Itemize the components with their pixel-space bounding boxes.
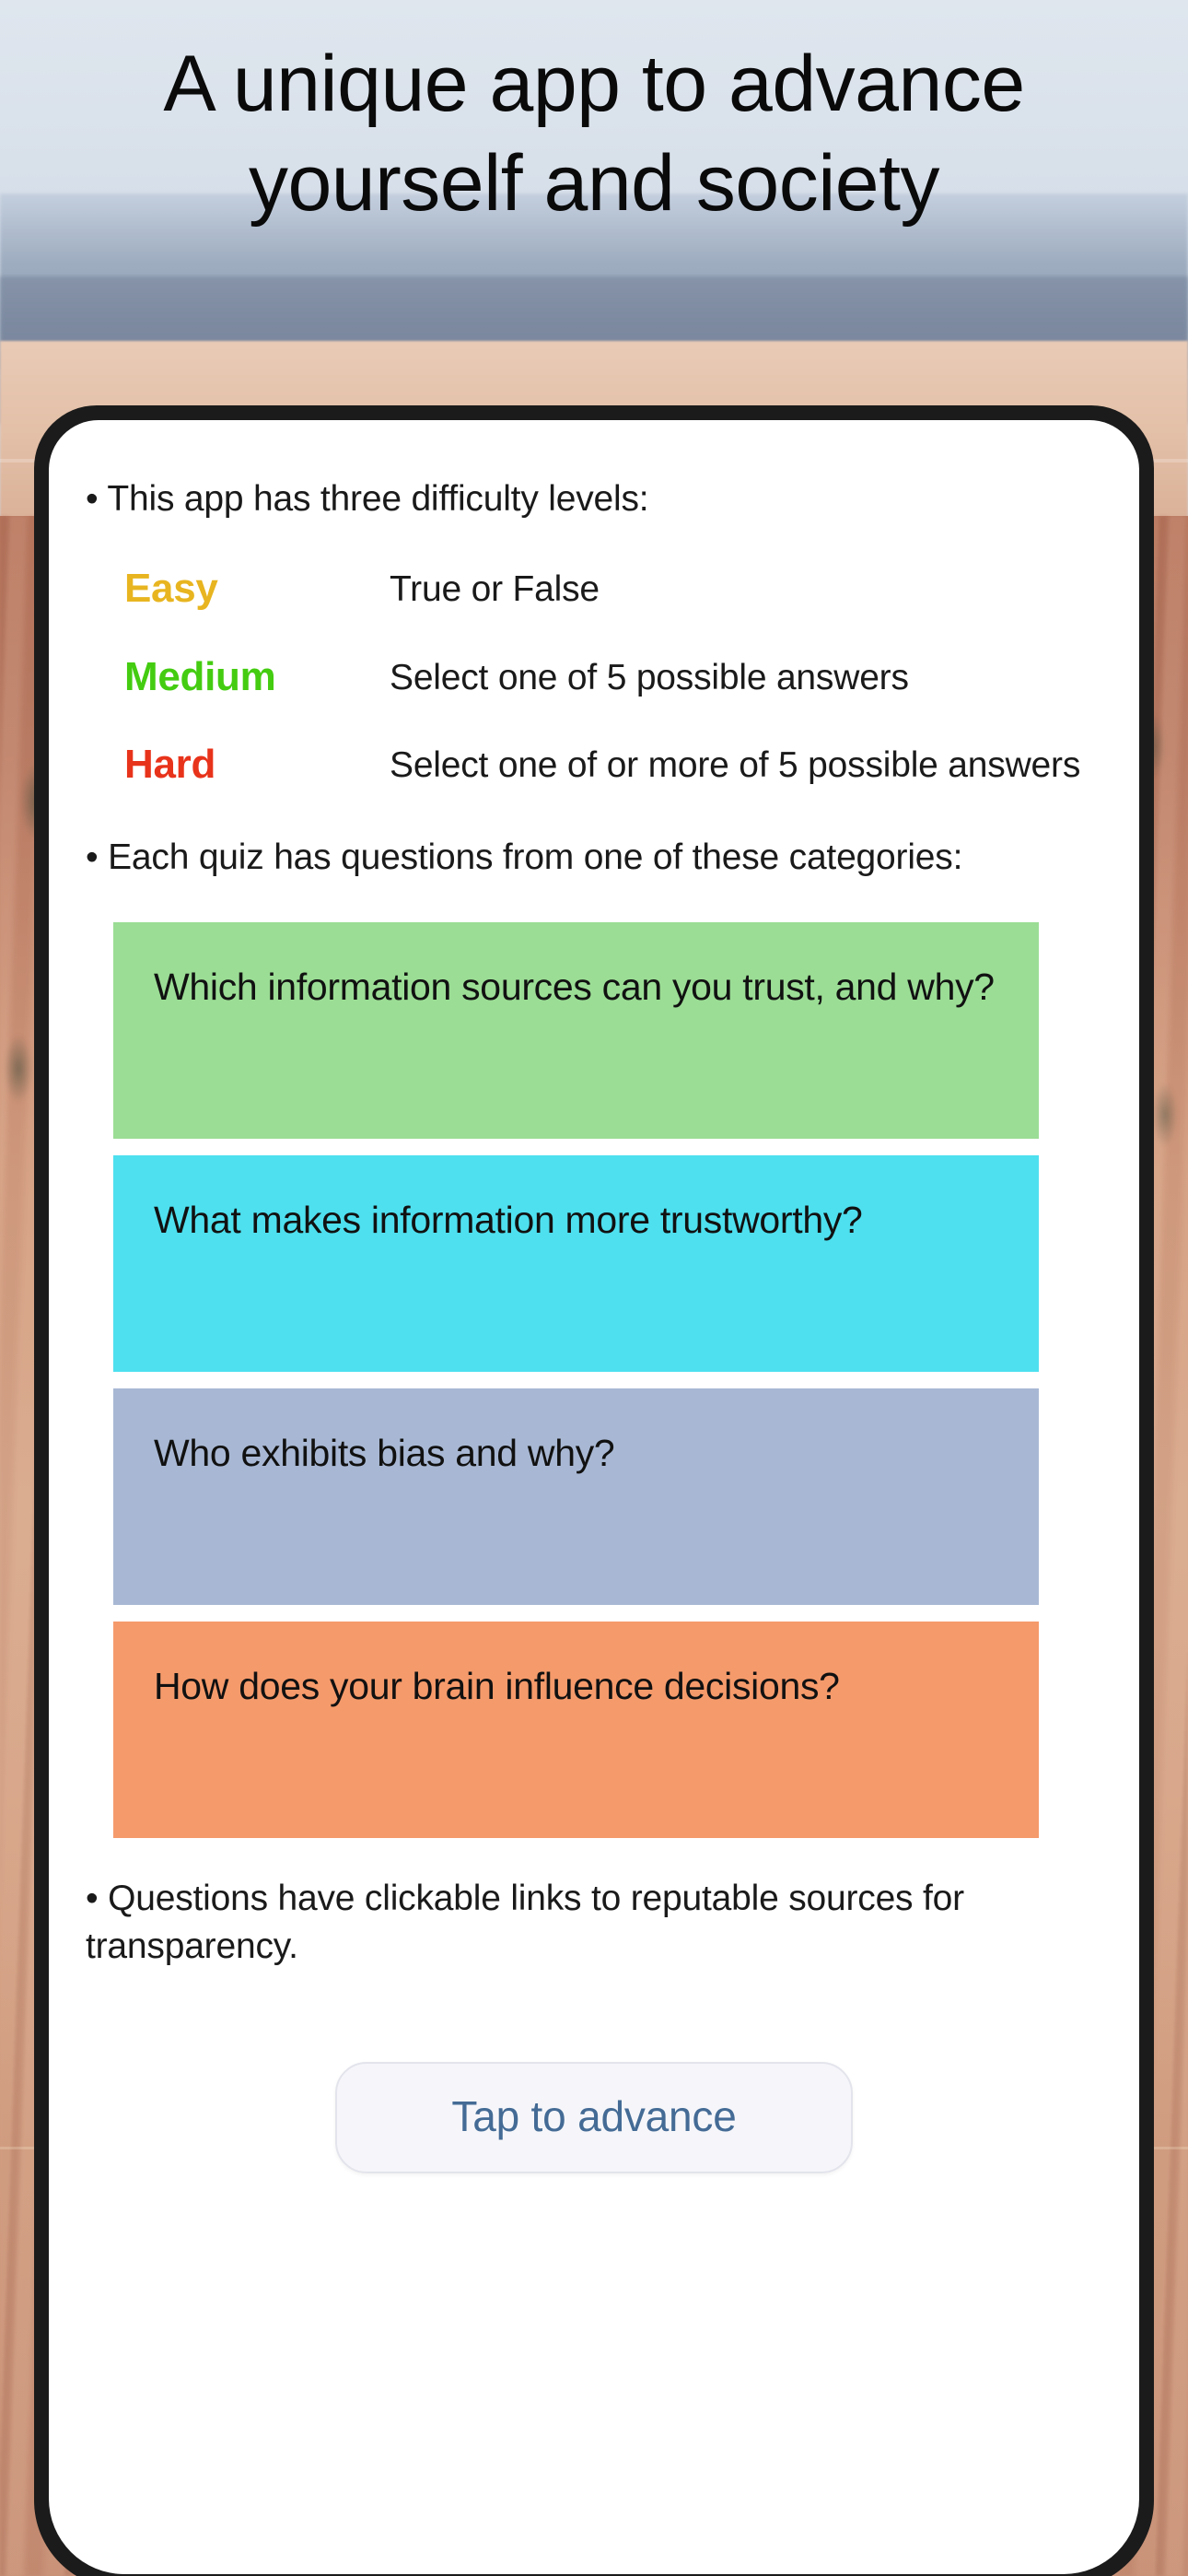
tap-to-advance-button[interactable]: Tap to advance	[335, 2062, 853, 2173]
headline-line-1: A unique app to advance	[18, 44, 1170, 123]
difficulty-row-hard: Hard Select one of or more of 5 possible…	[86, 740, 1102, 790]
difficulty-row-easy: Easy True or False	[86, 564, 1102, 614]
category-list: Which information sources can you trust,…	[86, 922, 1102, 1838]
bullet-categories-intro: • Each quiz has questions from one of th…	[86, 834, 1102, 882]
screen-content: • This app has three difficulty levels: …	[49, 420, 1139, 2173]
category-card-bias[interactable]: Who exhibits bias and why?	[113, 1388, 1039, 1605]
category-card-label: Which information sources can you trust,…	[154, 963, 1006, 1011]
category-card-label: Who exhibits bias and why?	[154, 1429, 1006, 1477]
difficulty-label-medium: Medium	[86, 652, 390, 702]
category-card-label: How does your brain influence decisions?	[154, 1662, 1006, 1710]
difficulty-row-medium: Medium Select one of 5 possible answers	[86, 652, 1102, 702]
phone-mockup-frame: • This app has three difficulty levels: …	[34, 405, 1154, 2576]
headline-line-2: yourself and society	[18, 144, 1170, 223]
page-headline: A unique app to advance yourself and soc…	[0, 44, 1188, 223]
bullet-difficulty-intro: • This app has three difficulty levels:	[86, 475, 1102, 523]
difficulty-label-hard: Hard	[86, 740, 390, 790]
difficulty-label-easy: Easy	[86, 564, 390, 614]
category-card-label: What makes information more trustworthy?	[154, 1196, 1006, 1244]
difficulty-levels-table: Easy True or False Medium Select one of …	[86, 564, 1102, 790]
difficulty-description-medium: Select one of 5 possible answers	[390, 652, 1102, 701]
category-card-sources-trust[interactable]: Which information sources can you trust,…	[113, 922, 1039, 1139]
advance-button-container: Tap to advance	[86, 2062, 1102, 2173]
category-card-brain-decisions[interactable]: How does your brain influence decisions?	[113, 1622, 1039, 1838]
difficulty-description-hard: Select one of or more of 5 possible answ…	[390, 740, 1102, 789]
phone-screen: • This app has three difficulty levels: …	[49, 420, 1139, 2574]
category-card-trustworthiness[interactable]: What makes information more trustworthy?	[113, 1155, 1039, 1372]
tap-to-advance-label: Tap to advance	[451, 2092, 736, 2140]
difficulty-description-easy: True or False	[390, 564, 1102, 613]
bullet-sources-note: • Questions have clickable links to repu…	[86, 1875, 1102, 1971]
